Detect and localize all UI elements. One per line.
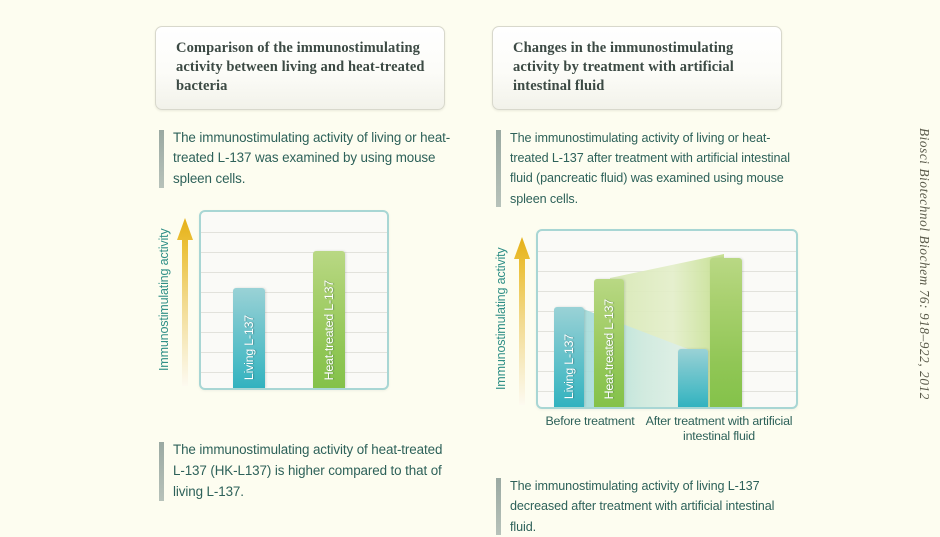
y-axis-label-left: Immunostimulating activity — [155, 210, 173, 390]
bars-right: Living L-137 Heat-treated L-137 — [538, 231, 796, 407]
panel-living-vs-heat-treated: Comparison of the immunostimulating acti… — [155, 26, 455, 503]
bar-label-living-l137-before: Living L-137 — [562, 334, 576, 399]
bar-living-l137-after — [678, 349, 708, 407]
bar-heat-treated-l137-after — [710, 258, 742, 408]
panel-intro-note-right: The immunostimulating activity of living… — [492, 128, 792, 210]
x-axis-labels-right: Before treatment After treatment with ar… — [536, 412, 798, 446]
panel-conclusion-text-left: The immunostimulating activity of heat-t… — [173, 440, 455, 503]
bar-label-heat-treated-l137: Heat-treated L-137 — [322, 280, 336, 380]
panel-intro-text-right: The immunostimulating activity of living… — [510, 128, 792, 210]
panel-title-box-left: Comparison of the immunostimulating acti… — [155, 26, 445, 110]
panel-title-left: Comparison of the immunostimulating acti… — [176, 39, 430, 96]
chart-intestinal-fluid: Immunostimulating activity — [492, 229, 792, 429]
journal-citation: Biosci Biotechnol Biochem 76: 918–922, 2… — [916, 128, 932, 400]
figure-root: Comparison of the immunostimulating acti… — [0, 0, 940, 465]
plot-area-right: Living L-137 Heat-treated L-137 — [536, 229, 798, 409]
bar-heat-treated-l137-before: Heat-treated L-137 — [594, 279, 624, 407]
bar-heat-treated-l137: Heat-treated L-137 — [313, 251, 345, 388]
panel-artificial-intestinal-fluid: Changes in the immunostimulating activit… — [492, 26, 792, 537]
panel-intro-text-left: The immunostimulating activity of living… — [173, 128, 455, 191]
panel-conclusion-note-left: The immunostimulating activity of heat-t… — [155, 440, 455, 503]
bar-living-l137: Living L-137 — [233, 288, 265, 388]
panel-title-right: Changes in the immunostimulating activit… — [513, 39, 767, 96]
chart-comparison: Immunostimulating activity — [155, 210, 455, 410]
x-label-before-treatment: Before treatment — [542, 414, 638, 429]
up-arrow-icon-left — [176, 216, 194, 388]
panel-conclusion-text-right: The immunostimulating activity of living… — [510, 476, 792, 537]
panel-intro-note-left: The immunostimulating activity of living… — [155, 128, 455, 191]
bar-label-living-l137: Living L-137 — [242, 315, 256, 380]
bars-left: Living L-137 Heat-treated L-137 — [201, 212, 387, 388]
plot-area-left: Living L-137 Heat-treated L-137 — [199, 210, 389, 390]
x-label-after-treatment: After treatment with artificial intestin… — [644, 414, 794, 444]
y-axis-label-right: Immunostimulating activity — [492, 229, 510, 409]
panel-conclusion-note-right: The immunostimulating activity of living… — [492, 476, 792, 537]
bar-living-l137-before: Living L-137 — [554, 307, 584, 407]
up-arrow-icon-right — [513, 235, 531, 407]
panel-title-box-right: Changes in the immunostimulating activit… — [492, 26, 782, 110]
bar-label-heat-treated-l137-before: Heat-treated L-137 — [602, 299, 616, 399]
